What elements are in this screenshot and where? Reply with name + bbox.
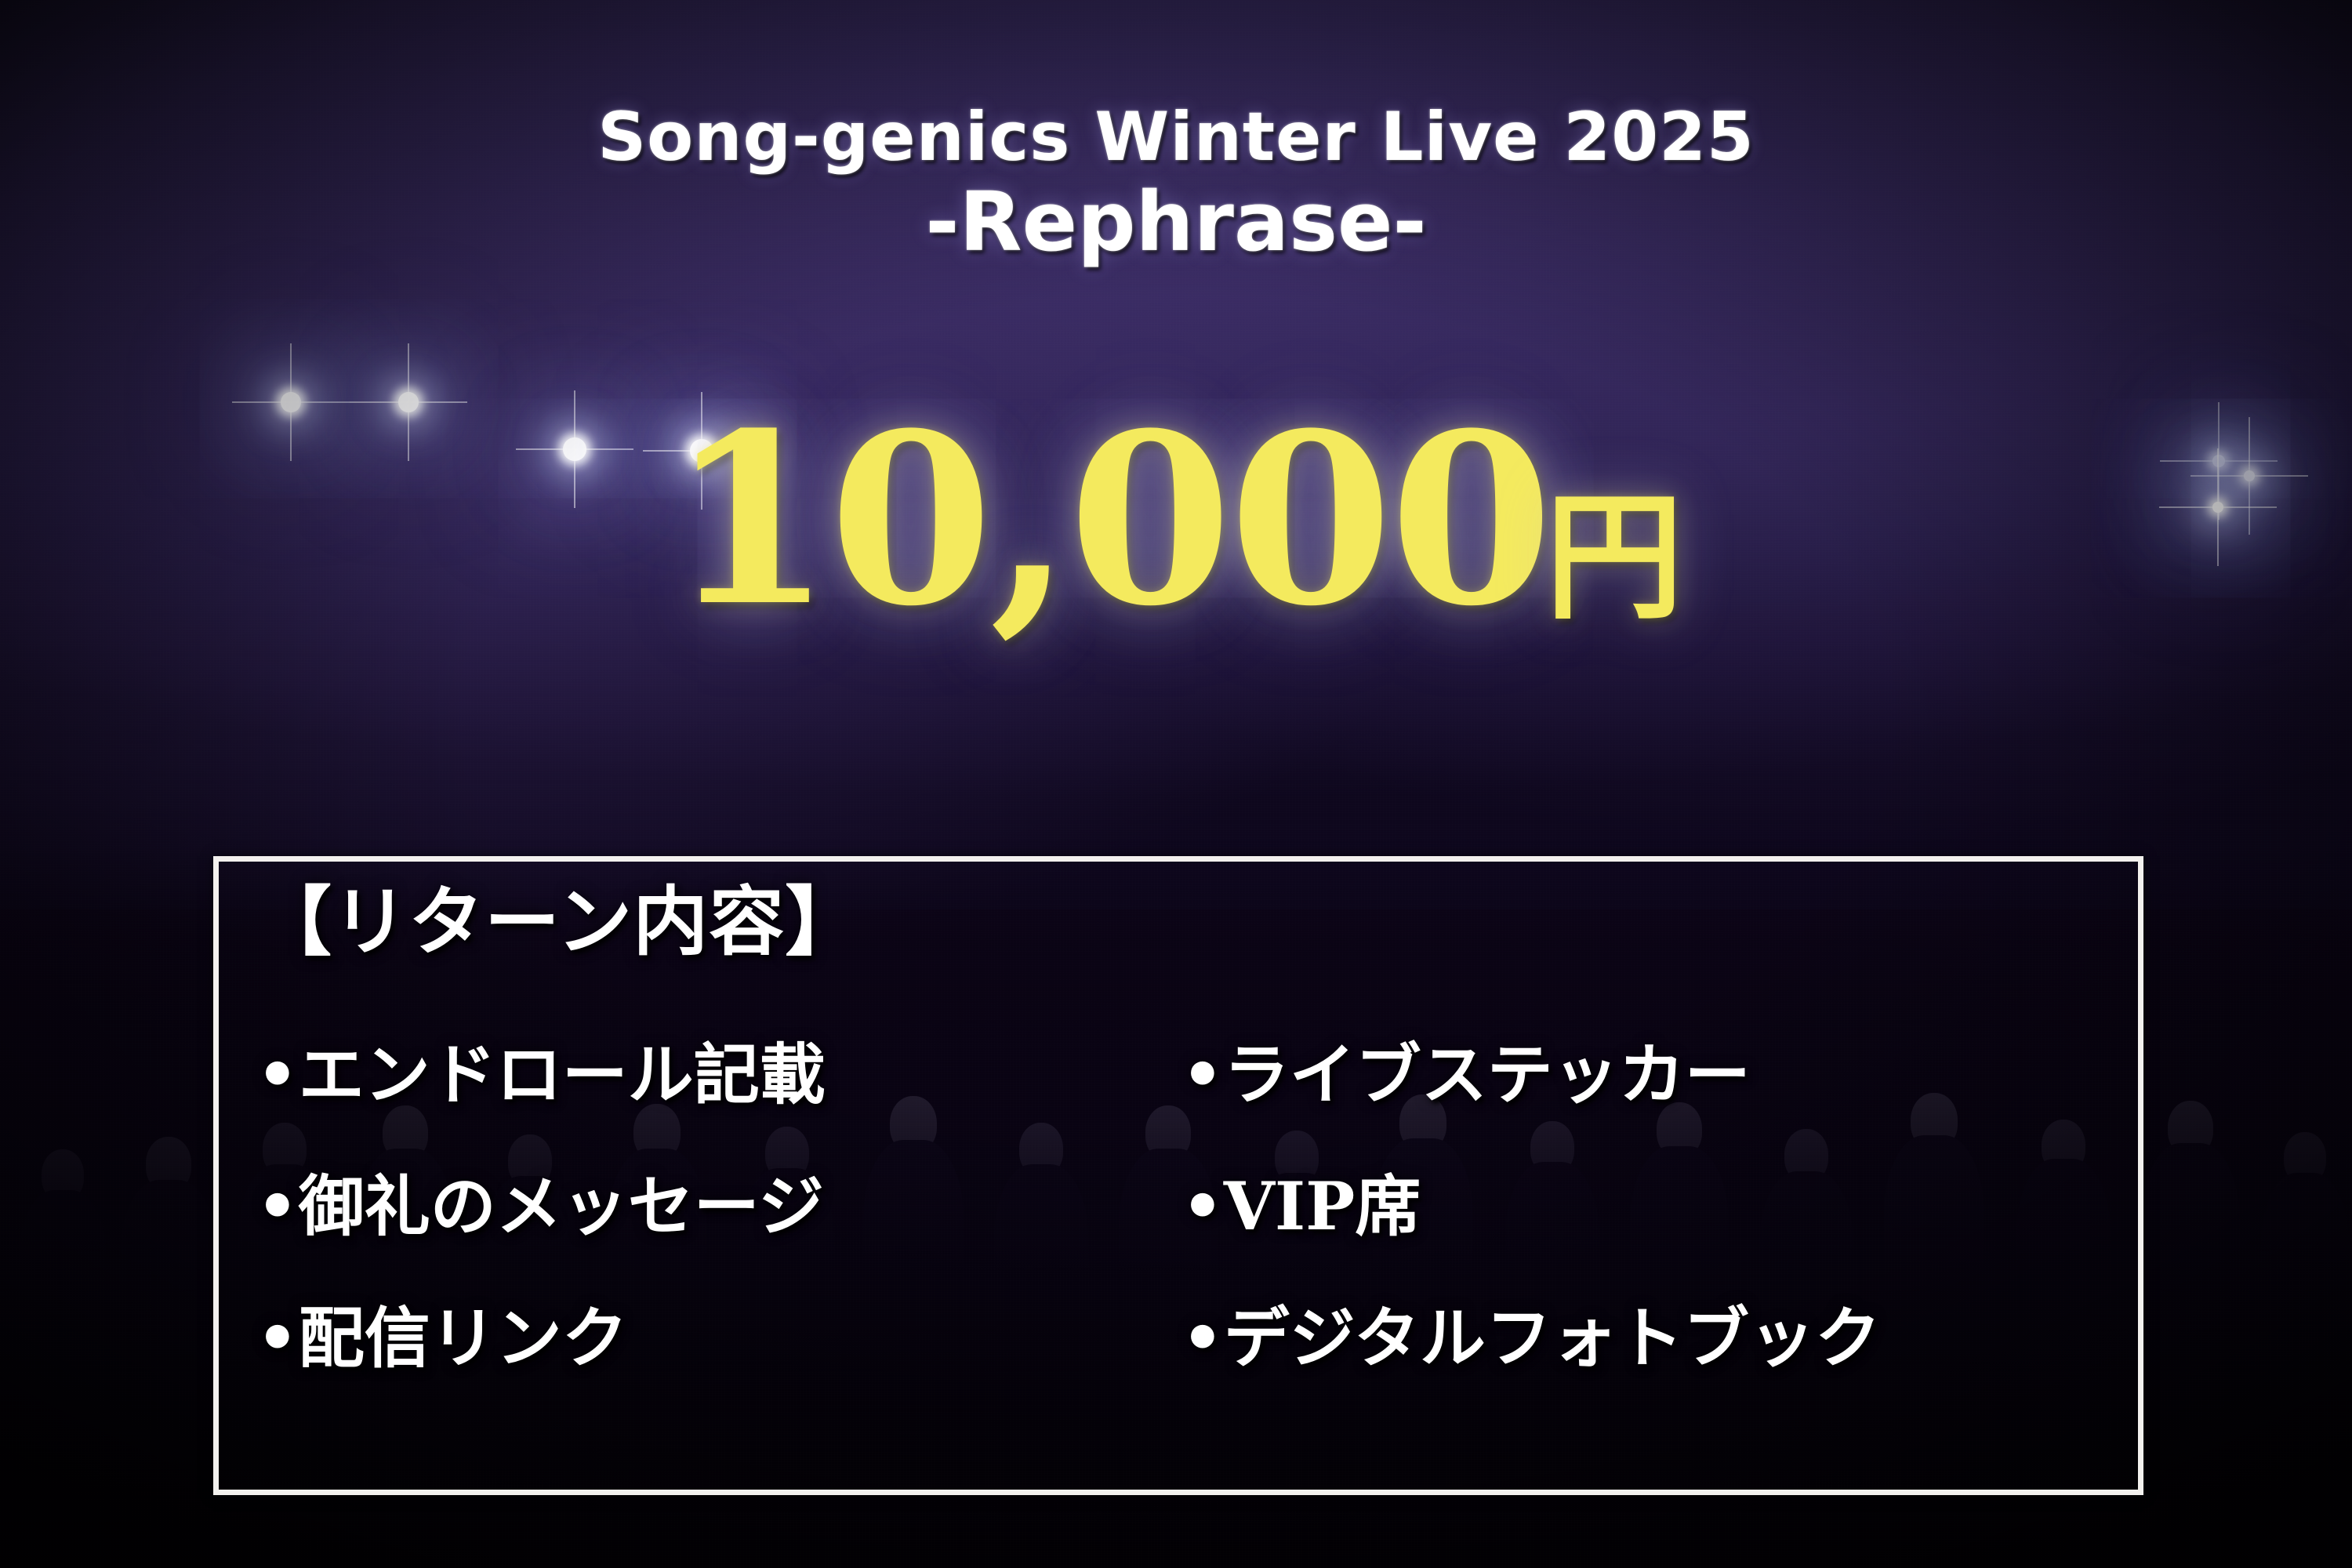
return-reward-card: Song-genics Winter Live 2025 -Rephrase- … xyxy=(0,0,2352,1568)
return-item: •デジタルフォトブック xyxy=(1181,1305,2114,1371)
event-title-block: Song-genics Winter Live 2025 -Rephrase- xyxy=(0,102,2352,267)
price-currency-unit: 円 xyxy=(1545,488,1683,626)
return-item: •エンドロール記載 xyxy=(256,1042,1181,1108)
event-title-primary: Song-genics Winter Live 2025 xyxy=(0,102,2352,172)
return-items-grid: •エンドロール記載 •ライブステッカー •御礼のメッセージ •VIP席 •配信リ… xyxy=(256,1009,2114,1404)
return-item: •ライブステッカー xyxy=(1181,1042,2114,1108)
return-content-box: 【リターン内容】 •エンドロール記載 •ライブステッカー •御礼のメッセージ •… xyxy=(213,856,2143,1495)
return-item: •配信リンク xyxy=(256,1305,1181,1371)
return-item: •VIP席 xyxy=(1181,1174,2114,1240)
event-title-subtitle: -Rephrase- xyxy=(0,177,2352,267)
return-content-heading: 【リターン内容】 xyxy=(256,879,861,965)
price-block: 10,000 円 xyxy=(0,408,2352,631)
return-item: •御礼のメッセージ xyxy=(256,1174,1181,1240)
price-amount: 10,000 xyxy=(669,408,1550,631)
